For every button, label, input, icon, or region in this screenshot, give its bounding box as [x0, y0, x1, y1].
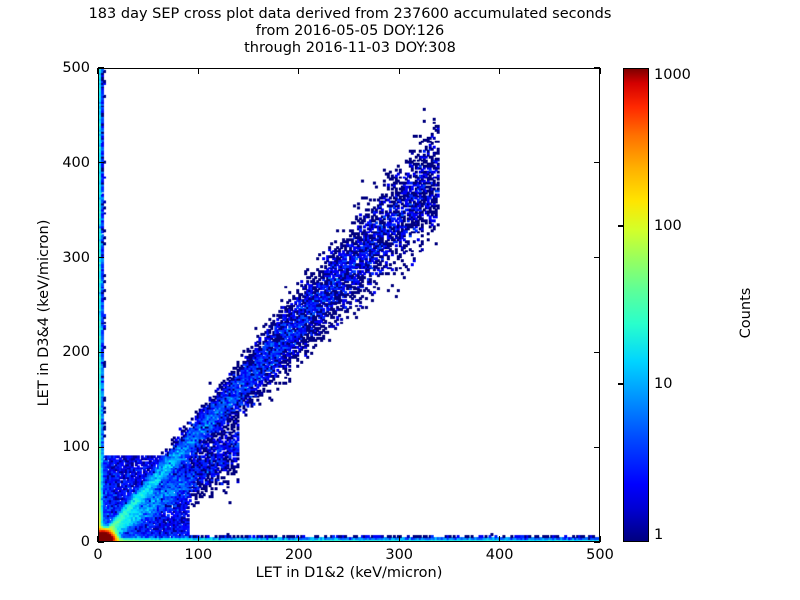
- scatter-plot-area: [98, 68, 600, 542]
- x-axis-tick: [198, 536, 199, 542]
- colorbar-tick: [618, 225, 623, 226]
- x-axis-tick-label: 0: [93, 547, 102, 563]
- y-axis-tick-right: [594, 447, 600, 448]
- chart-title-line-1: 183 day SEP cross plot data derived from…: [0, 6, 700, 23]
- x-axis-tick-top: [97, 68, 98, 74]
- colorbar-gradient: [623, 68, 649, 542]
- x-axis-tick-label: 500: [586, 547, 614, 563]
- y-axis-tick-right: [594, 67, 600, 68]
- colorbar-tick-label: 100: [654, 218, 682, 234]
- y-axis-tick-right: [594, 162, 600, 163]
- x-axis-tick-label: 100: [185, 547, 213, 563]
- colorbar-title: Counts: [738, 213, 754, 413]
- x-axis-tick: [298, 536, 299, 542]
- x-axis-tick-label: 300: [385, 547, 413, 563]
- x-axis-tick-top: [298, 68, 299, 74]
- x-axis-tick-label: 400: [486, 547, 514, 563]
- x-axis-tick: [499, 536, 500, 542]
- x-axis-tick-top: [499, 68, 500, 74]
- y-axis-tick: [98, 352, 104, 353]
- x-axis-tick-top: [599, 68, 600, 74]
- colorbar-tick: [618, 383, 623, 384]
- colorbar-tick-label: 10: [654, 376, 672, 392]
- x-axis-tick-label: 200: [285, 547, 313, 563]
- colorbar-tick-label: 1000: [654, 67, 691, 83]
- x-axis-tick-top: [198, 68, 199, 74]
- y-axis-tick: [98, 541, 104, 542]
- y-axis-tick-right: [594, 541, 600, 542]
- y-axis-tick: [98, 447, 104, 448]
- chart-title-line-3: through 2016-11-03 DOY:308: [0, 40, 700, 57]
- y-axis-tick: [98, 162, 104, 163]
- y-axis-tick-right: [594, 352, 600, 353]
- y-axis-tick-label: 500: [34, 60, 90, 76]
- chart-title-line-2: from 2016-05-05 DOY:126: [0, 23, 700, 40]
- chart-title: 183 day SEP cross plot data derived from…: [0, 6, 700, 57]
- colorbar-tick-label: 1: [654, 527, 663, 543]
- y-axis-tick-right: [594, 257, 600, 258]
- colorbar: 1101001000: [623, 68, 649, 542]
- scatter-density-canvas: [99, 69, 599, 541]
- y-axis-tick: [98, 67, 104, 68]
- y-axis-title: LET in D3&4 (keV/micron): [36, 163, 52, 463]
- x-axis-title: LET in D1&2 (keV/micron): [98, 565, 600, 581]
- y-axis-tick: [98, 257, 104, 258]
- x-axis-tick: [399, 536, 400, 542]
- x-axis-tick-top: [399, 68, 400, 74]
- y-axis-tick-label: 0: [34, 534, 90, 550]
